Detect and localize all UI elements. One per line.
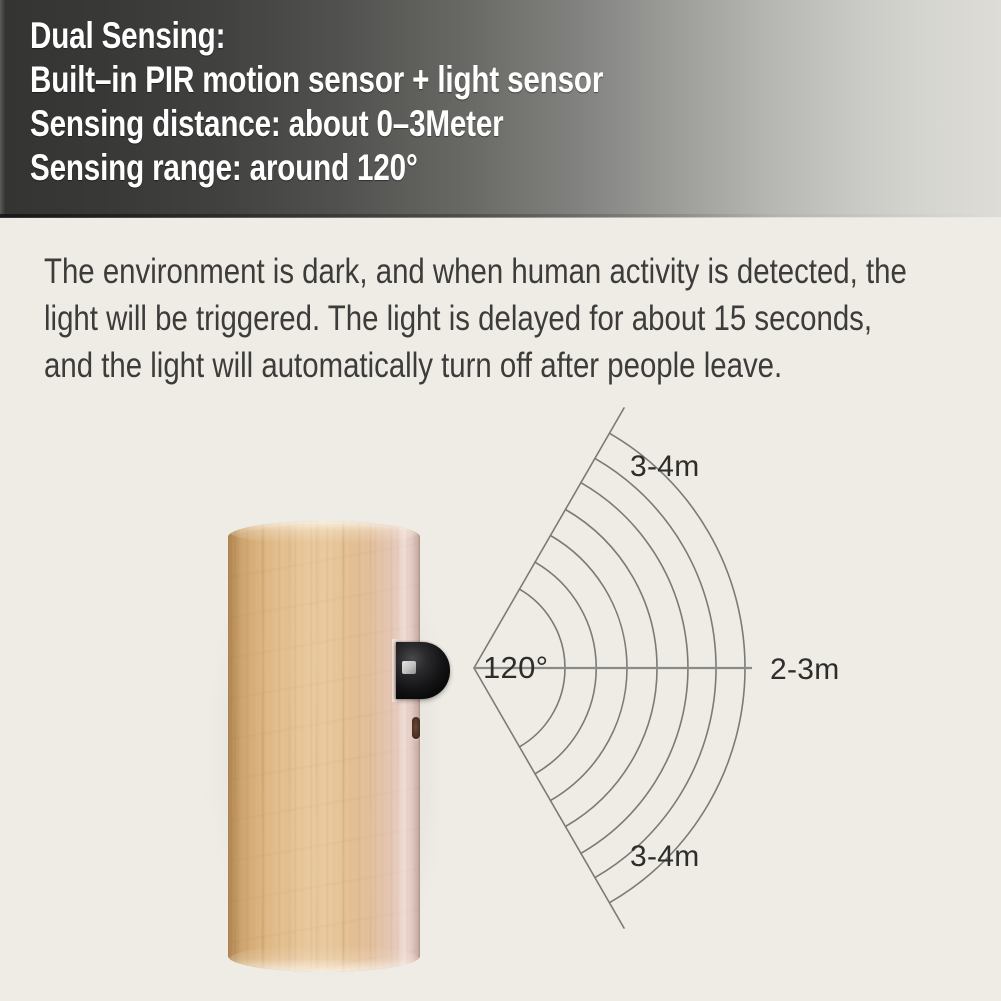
description-line-1: The environment is dark, and when human … <box>44 248 884 295</box>
cylinder-bottom-rim <box>229 946 419 972</box>
header-line-1: Dual Sensing: <box>30 14 750 58</box>
sensor-coverage-diagram: 3-4m 2-3m 3-4m 120° <box>440 380 860 960</box>
cylinder-top-rim <box>229 521 419 543</box>
sensor-highlight <box>402 661 416 674</box>
header-line-2: Built–in PIR motion sensor + light senso… <box>30 58 750 102</box>
edge-line-lower <box>474 668 624 928</box>
description-text-block: The environment is dark, and when human … <box>44 248 1001 389</box>
edge-line-upper <box>474 408 624 668</box>
description-line-2: light will be triggered. The light is de… <box>44 295 884 342</box>
header-band: Dual Sensing: Built–in PIR motion sensor… <box>0 0 1001 217</box>
range-label-bottom: 3-4m <box>630 840 700 874</box>
angle-label: 120° <box>483 650 548 686</box>
product-photo <box>228 521 424 974</box>
header-line-3: Sensing distance: about 0–3Meter <box>30 102 750 146</box>
header-left-accent-strip <box>0 0 5 217</box>
range-label-top: 3-4m <box>630 450 700 484</box>
header-line-4: Sensing range: around 120° <box>30 146 750 190</box>
header-text-block: Dual Sensing: Built–in PIR motion sensor… <box>30 14 930 190</box>
range-label-right: 2-3m <box>770 653 840 687</box>
product-infographic: Dual Sensing: Built–in PIR motion sensor… <box>0 0 1001 1001</box>
side-switch-slot <box>412 717 420 739</box>
header-divider <box>0 214 1001 218</box>
wooden-cylinder-body <box>228 521 420 972</box>
cylinder-shading <box>228 521 420 972</box>
